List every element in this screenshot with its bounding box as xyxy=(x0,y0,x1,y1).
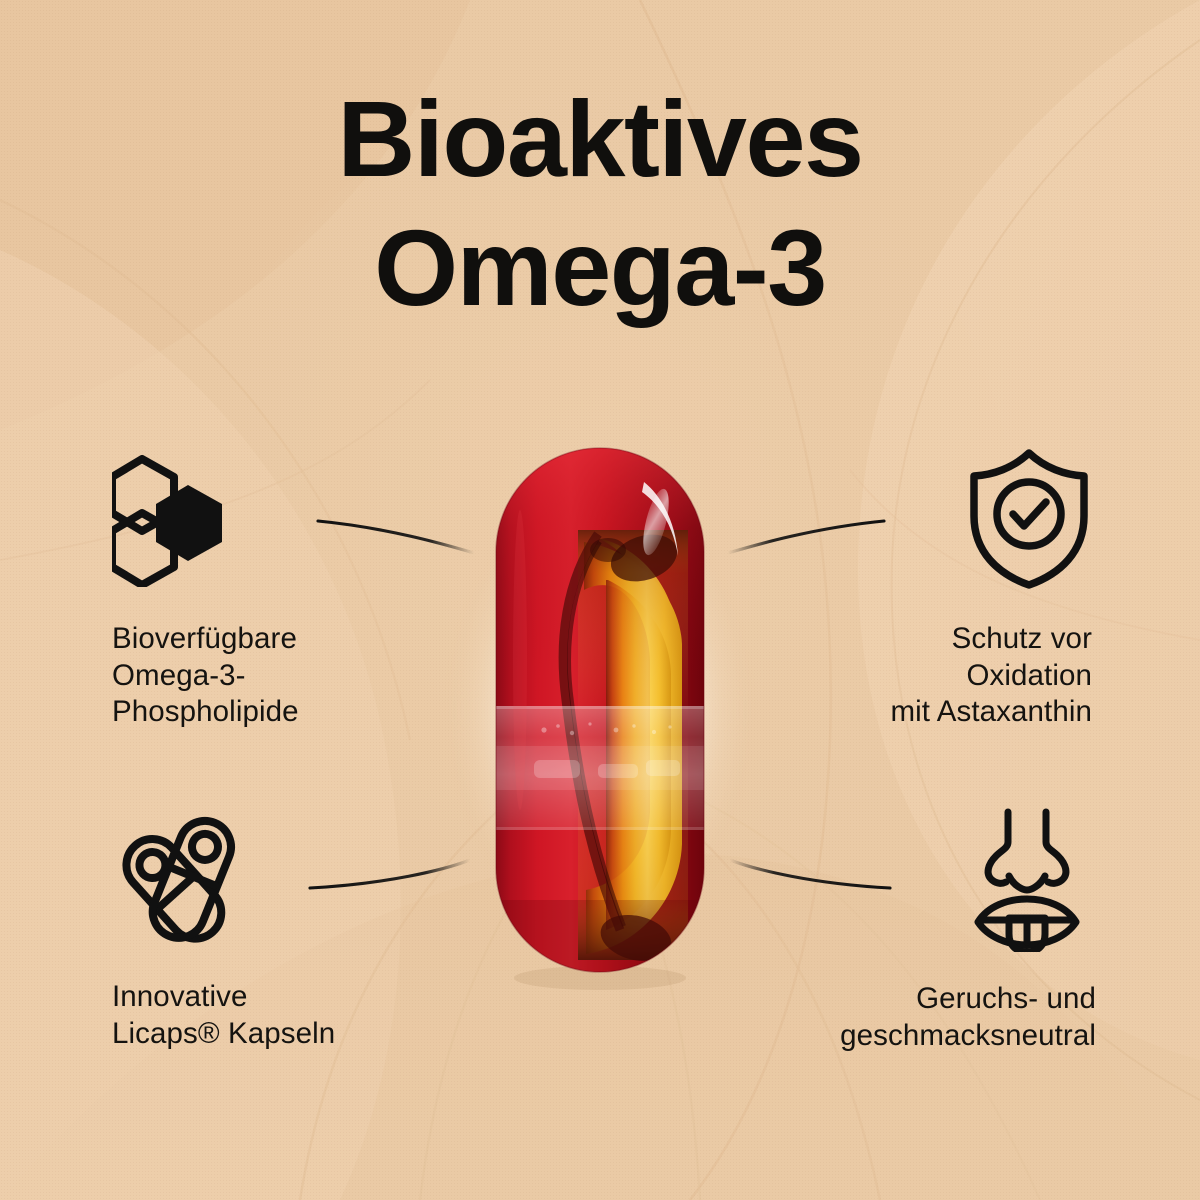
shield-check-icon xyxy=(966,448,1092,595)
feature-oxidation-protection: Schutz vor Oxidation mit Astaxanthin xyxy=(672,448,1092,731)
feature-caption: Geruchs- und geschmacksneutral xyxy=(676,981,1096,1054)
two-capsules-icon xyxy=(112,812,532,957)
feature-bioavailability: Bioverfügbare Omega-3- Phospholipide xyxy=(112,455,532,731)
page-title: Bioaktives Omega-3 xyxy=(0,74,1200,332)
feature-caption: Schutz vor Oxidation mit Astaxanthin xyxy=(672,621,1092,731)
feature-neutral-smell-taste: Geruchs- und geschmacksneutral xyxy=(676,806,1096,1054)
honeycomb-hexagons-icon xyxy=(112,455,532,592)
page-title-line-1: Bioaktives xyxy=(0,74,1200,203)
feature-caption: Bioverfügbare Omega-3- Phospholipide xyxy=(112,621,532,731)
infographic-canvas: Bioaktives Omega-3 xyxy=(0,0,1200,1200)
page-title-line-2: Omega-3 xyxy=(0,203,1200,332)
feature-caption: Innovative Licaps® Kapseln xyxy=(112,979,532,1052)
nose-and-tongue-icon xyxy=(968,806,1096,957)
feature-licaps-capsules: Innovative Licaps® Kapseln xyxy=(112,812,532,1052)
